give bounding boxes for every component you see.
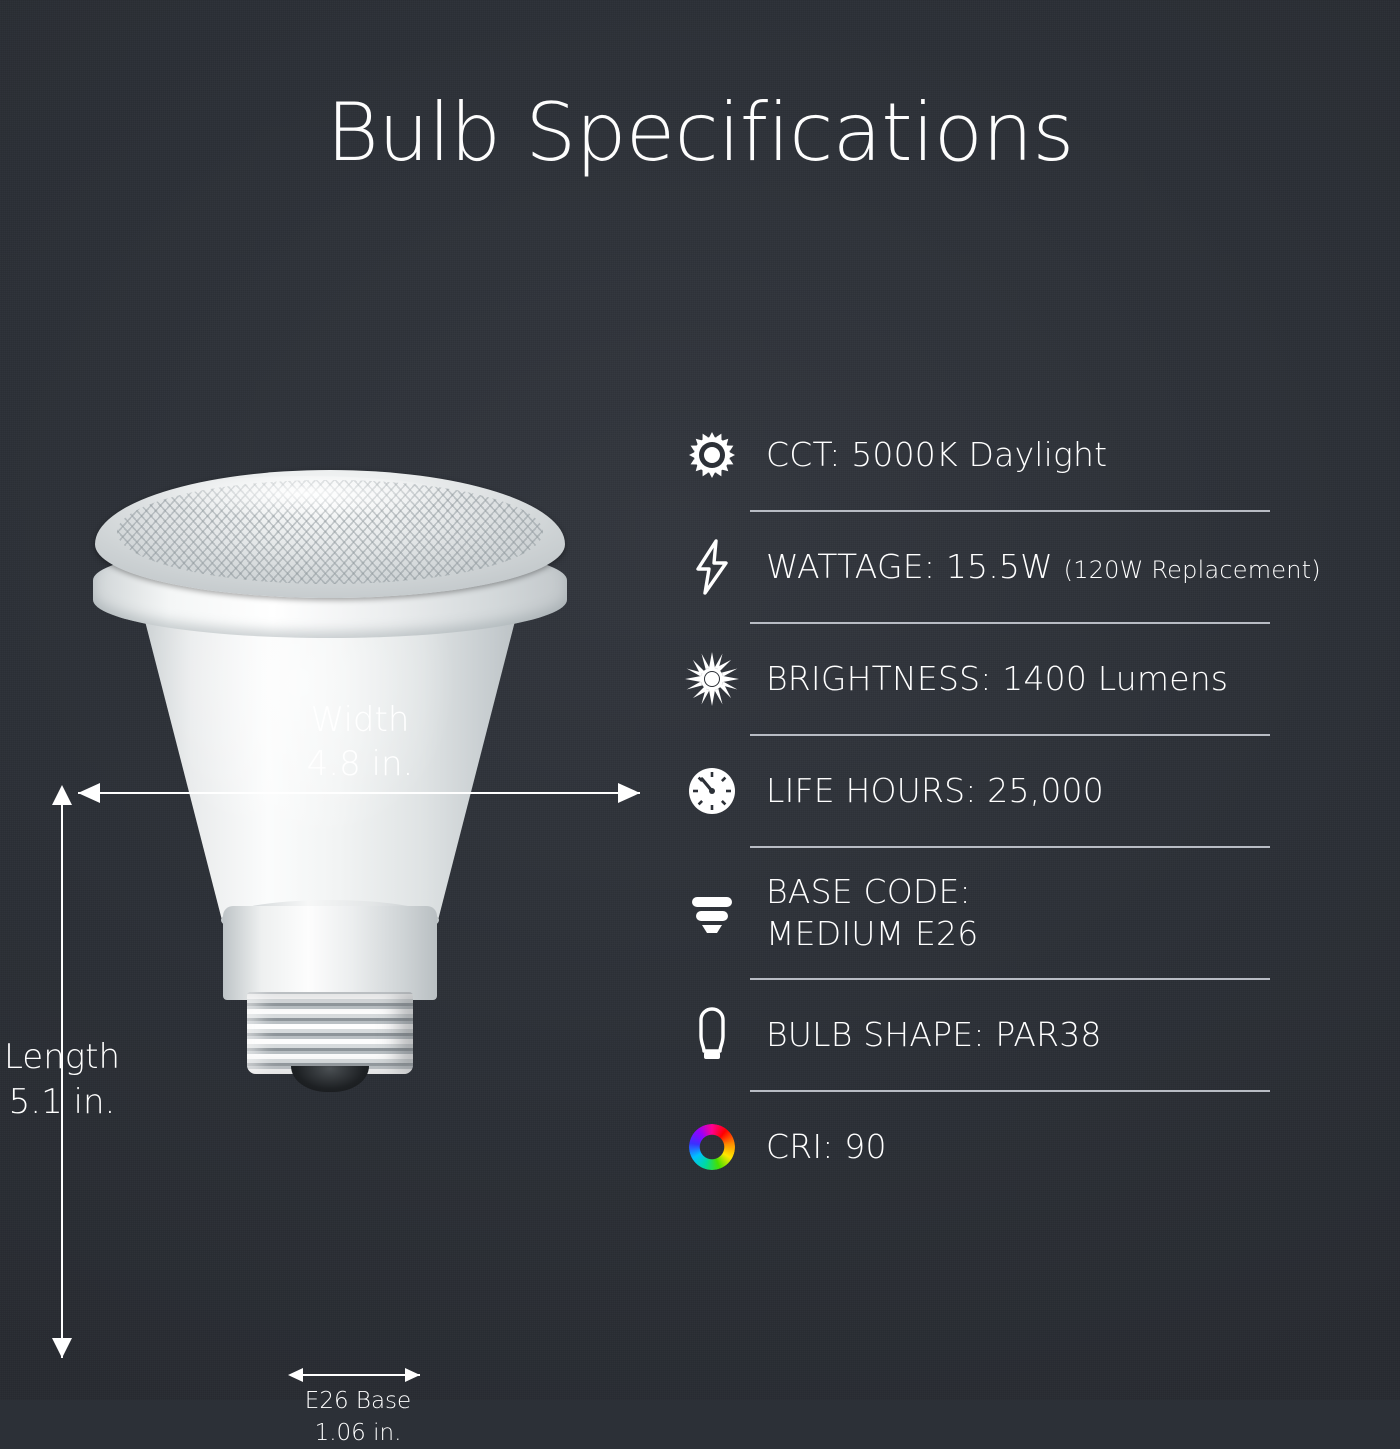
length-arrow-top-icon bbox=[52, 785, 72, 805]
length-label-text: Length bbox=[0, 1035, 126, 1080]
spec-row-brightness: BRIGHTNESS: 1400 Lumens bbox=[660, 624, 1360, 734]
base-arrow-left-icon bbox=[288, 1368, 303, 1382]
width-dimension-label: Width 4.8 in. bbox=[180, 698, 540, 786]
width-dimension-line bbox=[78, 792, 640, 794]
wattage-sub-text: (120W Replacement) bbox=[1064, 556, 1321, 584]
width-label-text: Width bbox=[180, 698, 540, 742]
base-label-text: E26 Base bbox=[253, 1386, 463, 1418]
length-value-text: 5.1 in. bbox=[0, 1080, 126, 1125]
spec-text-cct: CCT: 5000K Daylight bbox=[758, 434, 1107, 476]
screw-base-icon bbox=[666, 888, 758, 938]
color-wheel-icon bbox=[666, 1124, 758, 1170]
base-code-line2: MEDIUM E26 bbox=[766, 913, 978, 955]
lightning-bolt-icon bbox=[666, 539, 758, 595]
spec-row-base-code: BASE CODE: MEDIUM E26 bbox=[660, 848, 1360, 978]
bulb-specifications-page: Bulb Specifications Width 4.8 in. bbox=[0, 0, 1400, 1400]
length-dimension-label: Length 5.1 in. bbox=[0, 1035, 126, 1125]
spec-text-bulb-shape: BULB SHAPE: PAR38 bbox=[758, 1014, 1102, 1056]
spec-row-life-hours: LIFE HOURS: 25,000 bbox=[660, 736, 1360, 846]
spec-text-base-code: BASE CODE: MEDIUM E26 bbox=[758, 871, 978, 955]
base-arrow-right-icon bbox=[405, 1368, 420, 1382]
bulb-lens bbox=[95, 470, 565, 598]
bulb-neck bbox=[223, 906, 437, 1000]
spec-row-cri: CRI: 90 bbox=[660, 1092, 1360, 1202]
spec-row-cct: CCT: 5000K Daylight bbox=[660, 400, 1360, 510]
width-arrow-right-icon bbox=[618, 783, 640, 803]
base-code-line1: BASE CODE: bbox=[766, 871, 978, 913]
bulb-contact-tip bbox=[291, 1066, 369, 1092]
bulb-dimension-figure: Width 4.8 in. Length 5.1 in. E26 Base 1.… bbox=[0, 330, 660, 1120]
bulb-screw-threads bbox=[247, 992, 413, 1074]
clock-icon bbox=[666, 766, 758, 816]
width-arrow-left-icon bbox=[78, 783, 100, 803]
length-arrow-bottom-icon bbox=[52, 1338, 72, 1358]
spec-text-life-hours: LIFE HOURS: 25,000 bbox=[758, 770, 1104, 812]
spec-row-wattage: WATTAGE: 15.5W (120W Replacement) bbox=[660, 512, 1360, 622]
lens-gloss-highlight bbox=[155, 476, 455, 518]
spec-text-brightness: BRIGHTNESS: 1400 Lumens bbox=[758, 658, 1228, 700]
spec-text-cri: CRI: 90 bbox=[758, 1126, 887, 1168]
sun-gear-icon bbox=[666, 430, 758, 480]
width-value-text: 4.8 in. bbox=[180, 742, 540, 786]
spec-text-wattage: WATTAGE: 15.5W (120W Replacement) bbox=[758, 546, 1321, 588]
base-dimension-line bbox=[296, 1374, 420, 1376]
bulb-shape-icon bbox=[666, 1006, 758, 1064]
base-dimension-label: E26 Base 1.06 in. bbox=[253, 1386, 463, 1449]
brightness-sun-icon bbox=[666, 652, 758, 706]
spec-row-bulb-shape: BULB SHAPE: PAR38 bbox=[660, 980, 1360, 1090]
wattage-main-text: WATTAGE: 15.5W bbox=[766, 547, 1053, 586]
base-value-text: 1.06 in. bbox=[253, 1418, 463, 1449]
page-title: Bulb Specifications bbox=[0, 86, 1400, 179]
specifications-list: CCT: 5000K Daylight WATTAGE: 15.5W (120W… bbox=[660, 400, 1360, 1202]
